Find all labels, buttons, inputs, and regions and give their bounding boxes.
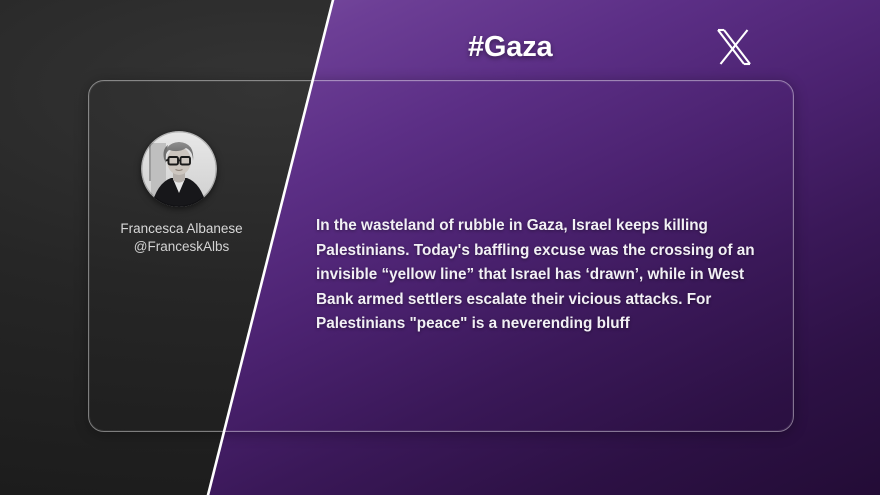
avatar bbox=[141, 131, 217, 207]
profile-column: Francesca Albanese @FranceskAlbs bbox=[89, 81, 324, 431]
tweet-card: Francesca Albanese @FranceskAlbs In the … bbox=[88, 80, 794, 432]
graphic-stage: #Gaza bbox=[0, 0, 880, 495]
x-twitter-logo-icon bbox=[713, 26, 755, 68]
profile-handle: @FranceskAlbs bbox=[89, 239, 274, 254]
tweet-text: In the wasteland of rubble in Gaza, Isra… bbox=[316, 214, 768, 337]
page-title: #Gaza bbox=[468, 31, 552, 64]
profile-display-name: Francesca Albanese bbox=[89, 221, 274, 236]
tweet-body: In the wasteland of rubble in Gaza, Isra… bbox=[316, 214, 768, 337]
header-bar: #Gaza bbox=[340, 0, 880, 80]
